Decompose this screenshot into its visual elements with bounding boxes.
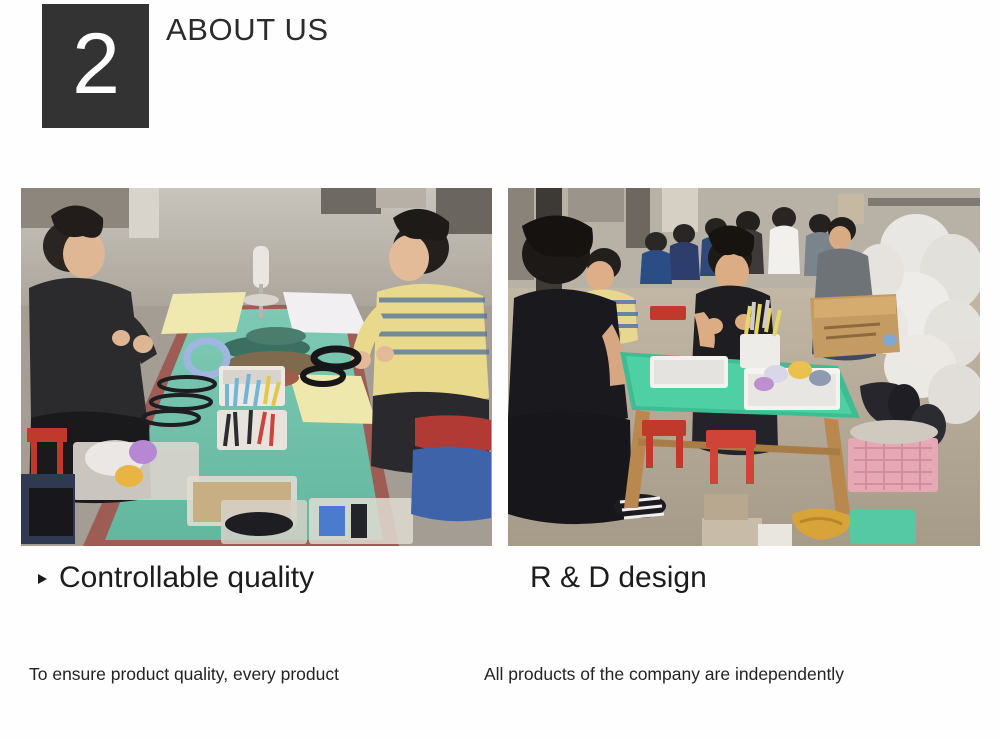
column-heading-right-text: R & D design — [530, 561, 707, 595]
body-line: is made by workers with one stitch and o… — [29, 734, 469, 739]
photo-row — [0, 188, 1000, 546]
triangle-right-icon — [38, 574, 47, 584]
photo-workshop-assembly-table — [21, 188, 492, 546]
factory-production-floor-illustration — [508, 188, 980, 546]
page-title: ABOUT US — [166, 12, 329, 48]
column-body-right: All products of the company are independ… — [484, 614, 954, 739]
photo-factory-production-floor — [508, 188, 980, 546]
about-us-page: 2 ABOUT US — [0, 0, 1000, 739]
body-line: researched and developed, seizing popula… — [484, 734, 954, 739]
section-number-badge: 2 — [42, 4, 149, 128]
column-heading-left-text: Controllable quality — [59, 561, 314, 595]
column-rd-design: R & D design All products of the company… — [484, 556, 954, 739]
column-heading-left: Controllable quality — [29, 556, 469, 600]
column-heading-right: R & D design — [484, 556, 954, 600]
column-body-left: To ensure product quality, every product… — [29, 614, 469, 739]
workshop-assembly-table-illustration — [21, 188, 492, 546]
section-number-text: 2 — [72, 21, 119, 107]
body-line: All products of the company are independ… — [484, 662, 954, 686]
body-line: To ensure product quality, every product — [29, 662, 469, 686]
column-controllable-quality: Controllable quality To ensure product q… — [29, 556, 469, 739]
text-columns: Controllable quality To ensure product q… — [0, 556, 1000, 739]
section-header: 2 ABOUT US — [0, 0, 1000, 160]
